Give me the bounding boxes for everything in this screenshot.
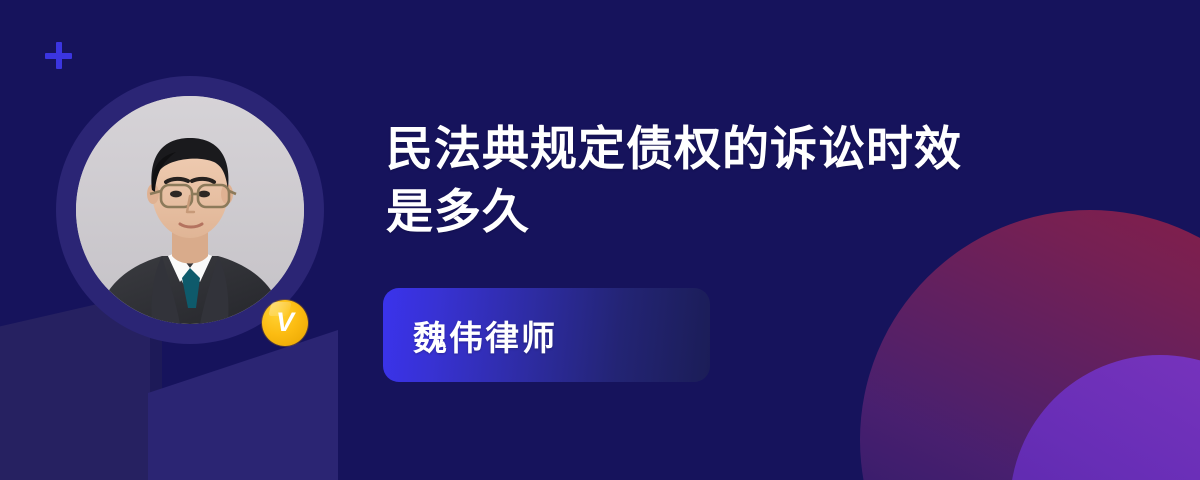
lawyer-name-badge[interactable]: 魏伟律师: [383, 288, 710, 382]
page-title: 民法典规定债权的诉讼时效是多久: [386, 118, 996, 243]
avatar[interactable]: V: [56, 76, 324, 344]
decor-polygon-right: [148, 330, 338, 480]
plus-icon: [45, 42, 72, 69]
lawyer-name-label: 魏伟律师: [383, 311, 557, 360]
banner-content: 民法典规定债权的诉讼时效是多久 魏伟律师: [386, 118, 1066, 243]
avatar-photo: [76, 96, 304, 324]
lawyer-qa-banner: V 民法典规定债权的诉讼时效是多久 魏伟律师: [0, 0, 1200, 480]
verified-check-glyph: V: [276, 309, 294, 336]
verified-badge-icon: V: [262, 300, 308, 346]
